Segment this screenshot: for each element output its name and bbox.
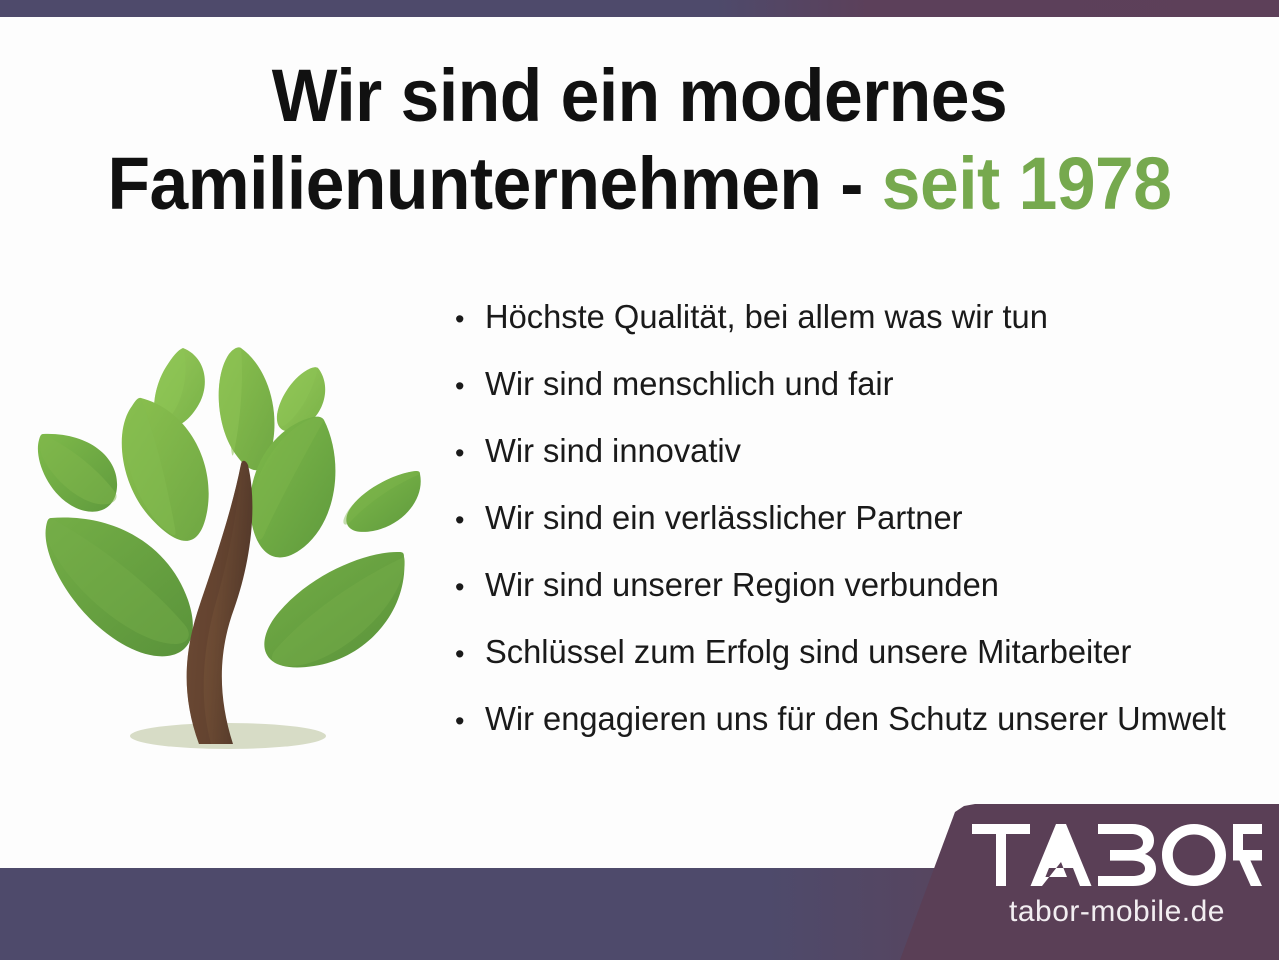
title-line-2: Familienunternehmen - seit 1978 xyxy=(38,140,1240,228)
top-accent-bar xyxy=(0,0,1279,17)
list-item: • Wir sind unserer Region verbunden xyxy=(455,568,1275,635)
bullet-label: Wir sind unserer Region verbunden xyxy=(485,568,999,601)
bullet-label: Wir sind innovativ xyxy=(485,434,741,467)
list-item: • Höchste Qualität, bei allem was wir tu… xyxy=(455,300,1275,367)
brand-url: tabor-mobile.de xyxy=(972,895,1262,929)
page-title: Wir sind ein modernes Familienunternehme… xyxy=(0,52,1279,228)
bullet-list: • Höchste Qualität, bei allem was wir tu… xyxy=(455,300,1275,769)
list-item: • Wir sind ein verlässlicher Partner xyxy=(455,501,1275,568)
title-line-1: Wir sind ein modernes xyxy=(38,52,1240,140)
bullet-label: Wir sind menschlich und fair xyxy=(485,367,894,400)
slide-canvas: Wir sind ein modernes Familienunternehme… xyxy=(0,0,1279,960)
bullet-marker-icon: • xyxy=(455,641,485,668)
bullet-marker-icon: • xyxy=(455,373,485,400)
list-item: • Wir sind menschlich und fair xyxy=(455,367,1275,434)
bullet-marker-icon: • xyxy=(455,306,485,333)
bullet-label: Wir engagieren uns für den Schutz unsere… xyxy=(485,702,1226,735)
list-item: • Wir engagieren uns für den Schutz unse… xyxy=(455,702,1275,769)
bullet-marker-icon: • xyxy=(455,708,485,735)
list-item: • Schlüssel zum Erfolg sind unsere Mitar… xyxy=(455,635,1275,702)
tree-logo-icon xyxy=(28,332,434,762)
bullet-label: Höchste Qualität, bei allem was wir tun xyxy=(485,300,1048,333)
tabor-wordmark-icon xyxy=(972,824,1262,886)
bullet-label: Schlüssel zum Erfolg sind unsere Mitarbe… xyxy=(485,635,1131,668)
bullet-marker-icon: • xyxy=(455,507,485,534)
bullet-marker-icon: • xyxy=(455,574,485,601)
bullet-marker-icon: • xyxy=(455,440,485,467)
list-item: • Wir sind innovativ xyxy=(455,434,1275,501)
title-line-2-accent: seit 1978 xyxy=(882,142,1172,225)
title-line-2-plain: Familienunternehmen - xyxy=(108,142,882,225)
bullet-label: Wir sind ein verlässlicher Partner xyxy=(485,501,963,534)
